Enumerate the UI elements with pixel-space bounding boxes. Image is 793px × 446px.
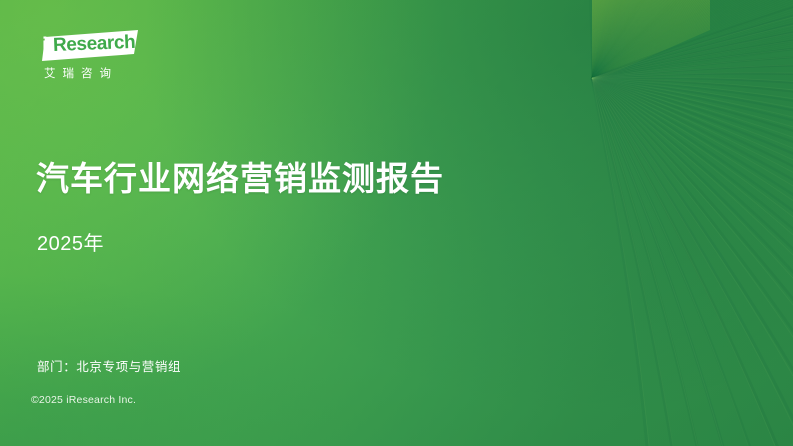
iresearch-logo[interactable]: i Research 艾瑞咨询: [20, 30, 150, 92]
report-cover-slide: i Research 艾瑞咨询 汽车行业网络营销监测报告 2025年 部门：北京…: [0, 0, 793, 446]
logo-letter-i: i: [42, 35, 48, 56]
logo-wordmark: Research: [53, 33, 136, 56]
logo-mark: i Research: [20, 30, 138, 61]
copyright-notice: ©2025 iResearch Inc.: [31, 394, 136, 406]
report-year: 2025年: [37, 227, 104, 256]
department-label: 部门：北京专项与营销组: [37, 356, 181, 375]
logo-chinese-name: 艾瑞咨询: [44, 65, 118, 81]
page-title: 汽车行业网络营销监测报告: [36, 152, 444, 200]
